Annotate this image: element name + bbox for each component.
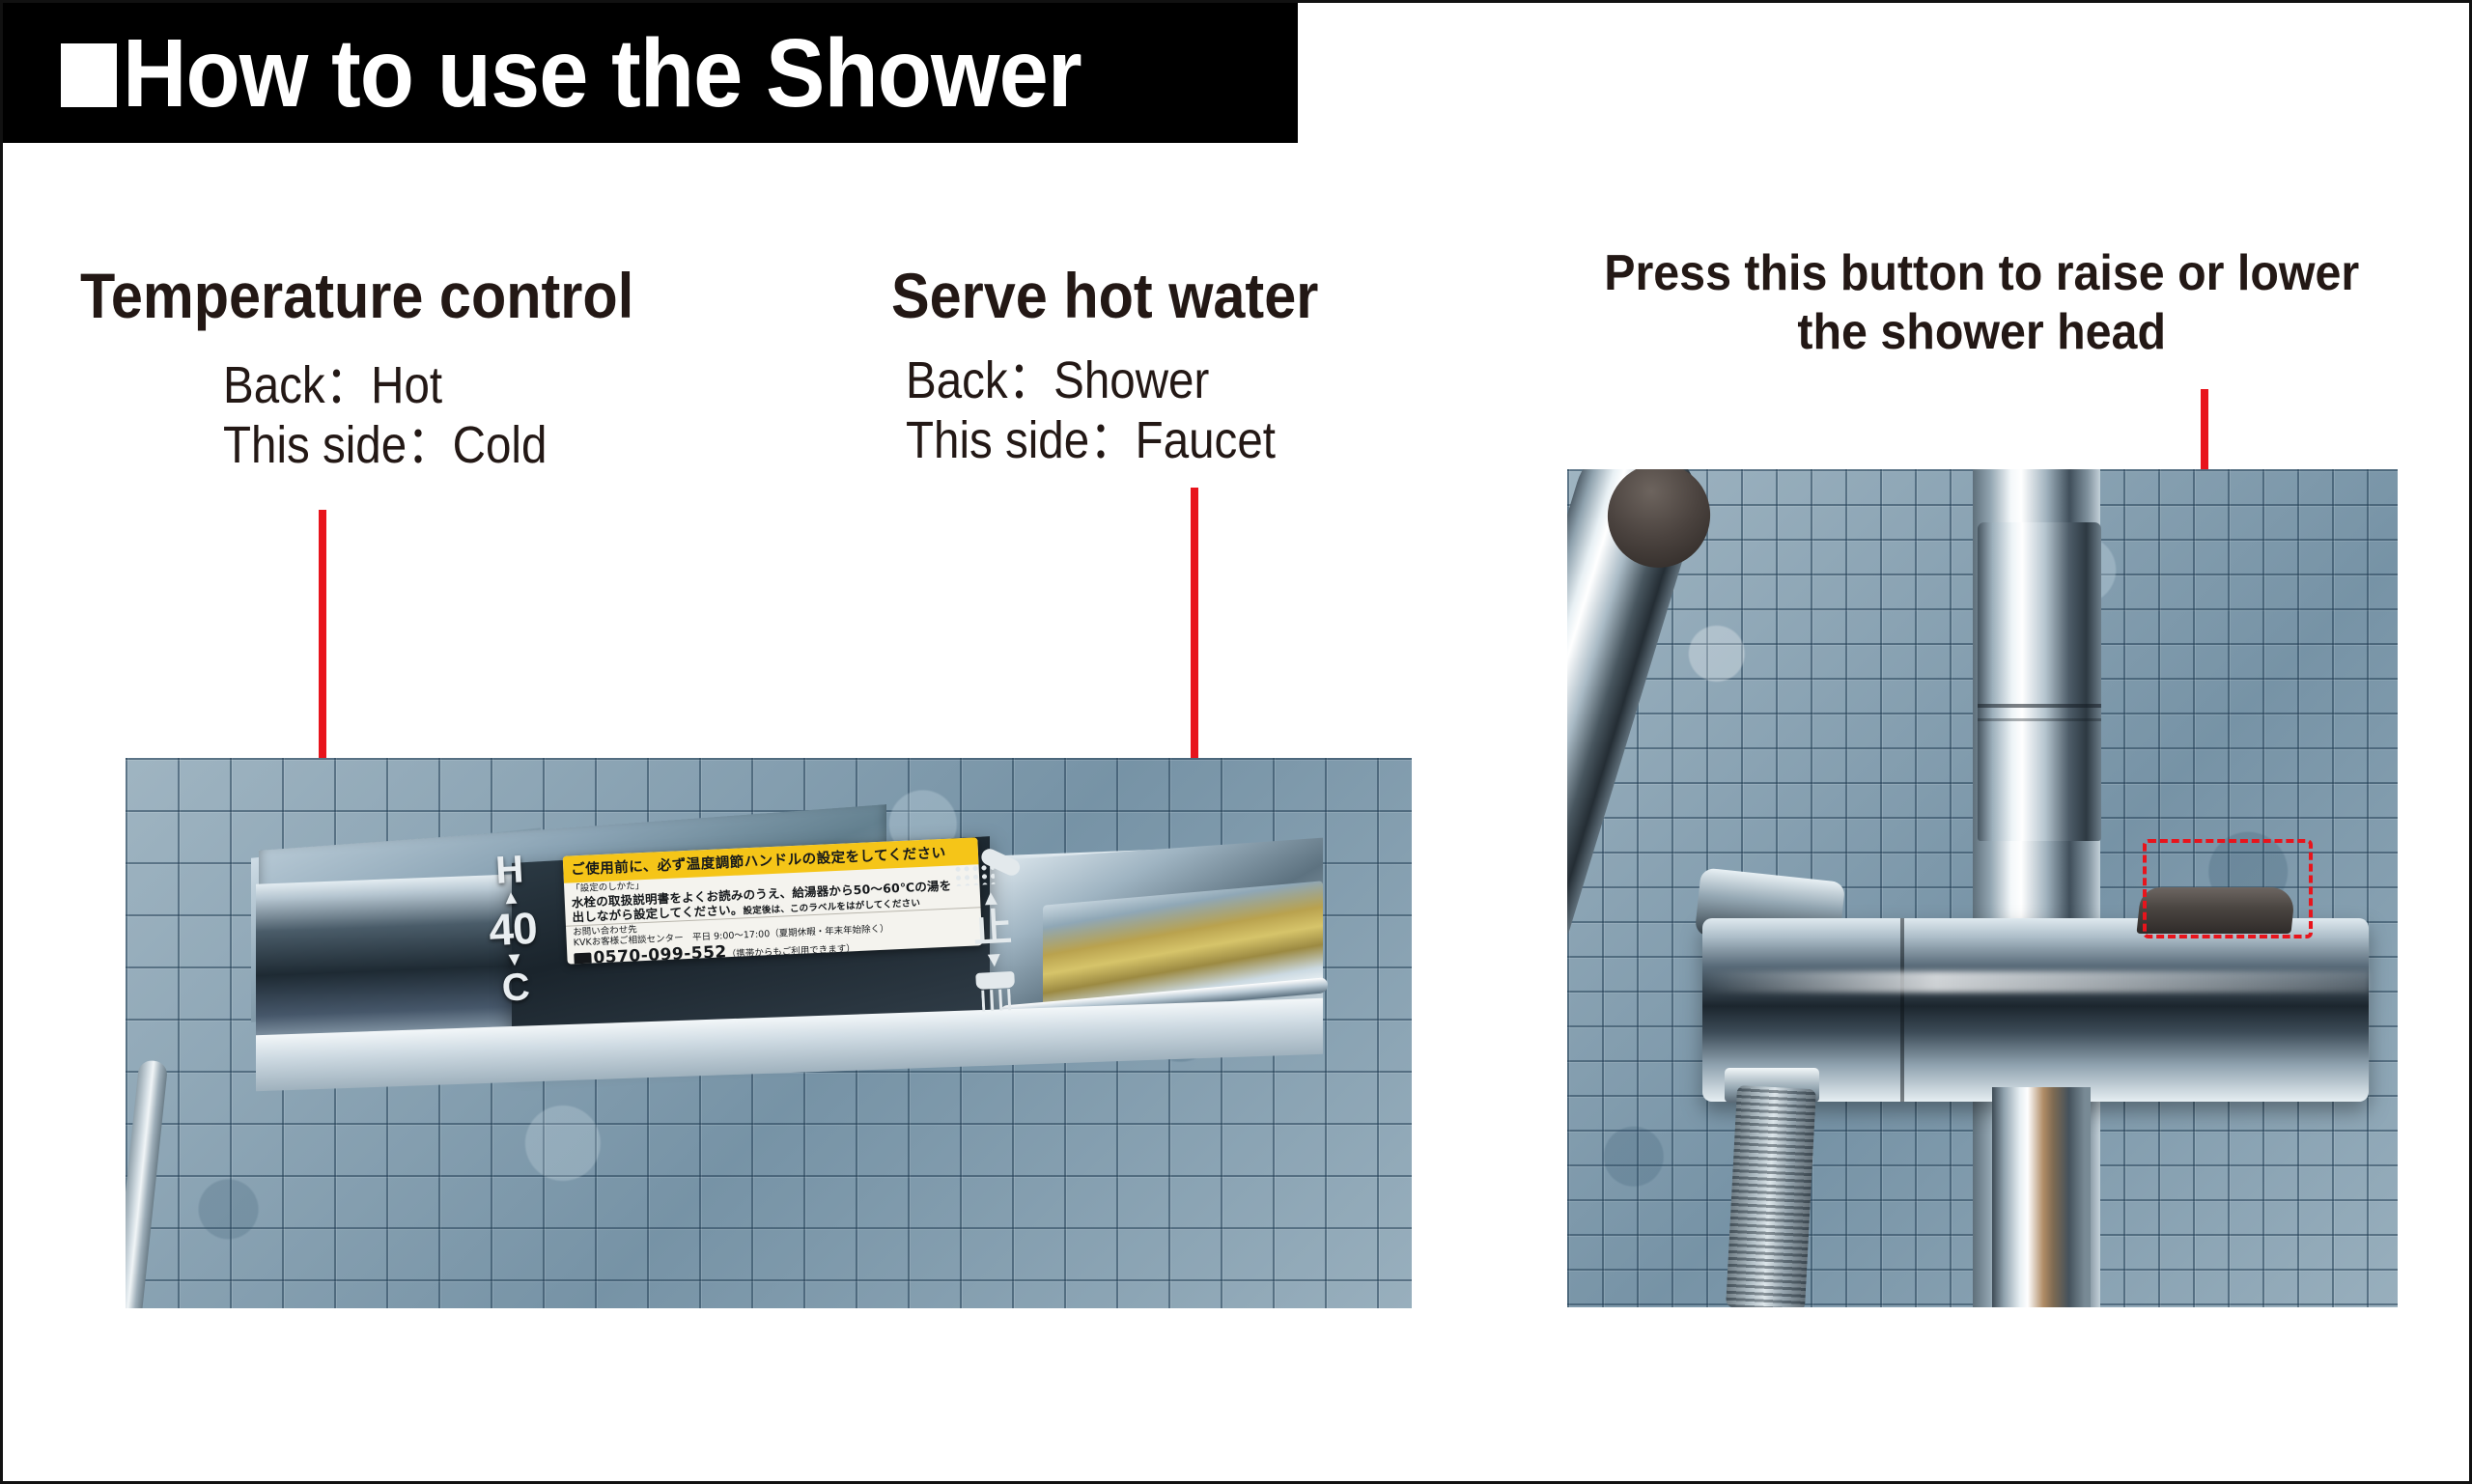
temperature-scale: H ▲ 40 ▼ C xyxy=(465,849,560,1009)
pointer-line-serve-hot-water xyxy=(1191,488,1198,761)
slide-bar-lower xyxy=(1992,1087,2091,1307)
serve-front-label: This side：Faucet xyxy=(906,410,1276,470)
heading-press-button: Press this button to raise or lower the … xyxy=(1587,244,2376,363)
photo-shower-slide-bar xyxy=(1567,469,2398,1307)
serve-back-label: Back：Shower xyxy=(906,350,1276,410)
caution-label: ご使用前に、必ず温度調節ハンドルの設定をしてください 「設定のしかた」 水栓の取… xyxy=(563,837,983,964)
lever-highlight-box xyxy=(2143,839,2313,938)
pointer-line-temperature xyxy=(319,510,326,763)
temperature-back-label: Back：Hot xyxy=(223,355,547,415)
temperature-front-label: This side：Cold xyxy=(223,415,547,475)
heading-serve-hot-water: Serve hot water xyxy=(891,264,1318,327)
flex-hose xyxy=(1726,1085,1816,1307)
cylinder-seam-secondary xyxy=(1978,718,2101,721)
page-title: How to use the Shower xyxy=(123,25,1081,122)
temperature-cold-letter: C xyxy=(471,966,560,1010)
telephone-icon xyxy=(574,952,592,964)
shower-head-icon xyxy=(953,851,1026,887)
bracket-highlight xyxy=(1702,971,2369,993)
cylinder-seam xyxy=(1978,704,2101,708)
faucet-spout-icon xyxy=(967,970,1025,1012)
temperature-control-details: Back：Hot This side：Cold xyxy=(223,355,547,475)
heading-temperature-control: Temperature control xyxy=(80,264,633,327)
pointer-line-shower-head-button xyxy=(2201,389,2208,474)
shower-instruction-page: How to use the Shower Temperature contro… xyxy=(0,0,2472,1484)
title-banner: How to use the Shower xyxy=(3,3,1298,143)
temperature-set-point: 40 xyxy=(468,905,557,954)
slide-bar-upper-cylinder xyxy=(1978,522,2101,841)
bracket-seam xyxy=(1900,918,1904,1102)
serve-hot-water-details: Back：Shower This side：Faucet xyxy=(906,350,1276,470)
photo-thermostatic-mixer: H ▲ 40 ▼ C ご使用前に、必ず温度調節ハンドルの設定をしてください 「設… xyxy=(126,758,1412,1308)
square-bullet-icon xyxy=(61,43,117,107)
temperature-hot-letter: H xyxy=(465,849,554,892)
mode-pictogram: ▲ 止 ▼ xyxy=(931,850,1054,1014)
mode-stop-kanji: 止 xyxy=(934,907,1052,951)
